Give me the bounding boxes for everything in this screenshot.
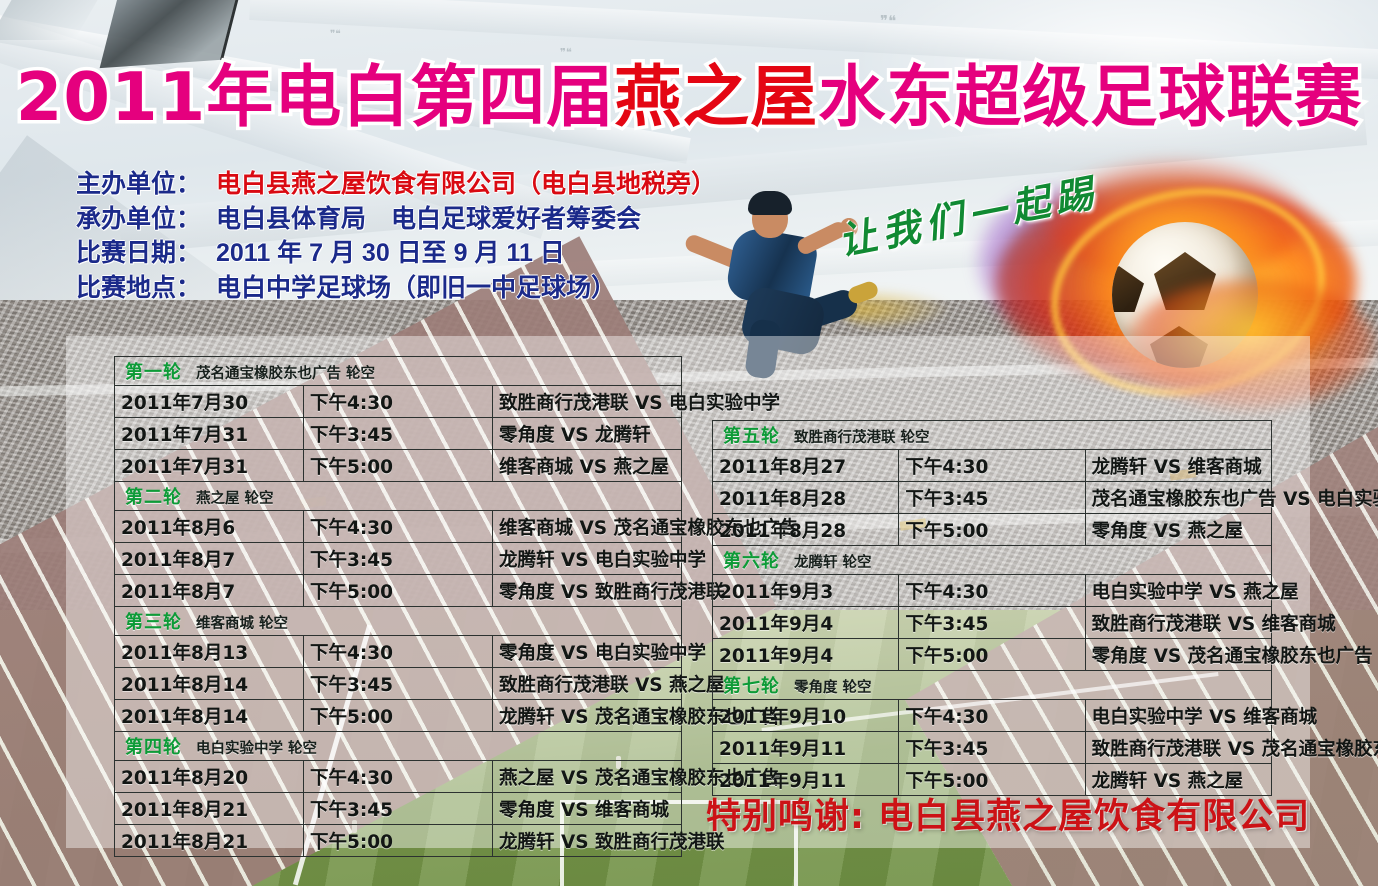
match-date: 2011年8月28 xyxy=(713,482,899,514)
match-time: 下午4:30 xyxy=(899,575,1085,607)
round-name: 第六轮 xyxy=(723,551,780,572)
match-time: 下午5:00 xyxy=(899,639,1085,671)
match-teams: 龙腾轩 VS 茂名通宝橡胶东也广告 xyxy=(493,700,682,732)
event-info-block: 主办单位： 电白县燕之屋饮食有限公司（电白县地税旁） 承办单位： 电白县体育局 … xyxy=(76,168,716,306)
match-teams: 零角度 VS 燕之屋 xyxy=(1085,514,1271,546)
match-row: 2011年9月4下午5:00零角度 VS 茂名通宝橡胶东也广告 xyxy=(713,639,1272,671)
match-time: 下午3:45 xyxy=(899,482,1085,514)
match-date: 2011年8月28 xyxy=(713,514,899,546)
match-time: 下午3:45 xyxy=(899,732,1085,764)
match-teams: 维客商城 VS 茂名通宝橡胶东也广告 xyxy=(493,511,682,543)
round-bye-team: 零角度 轮空 xyxy=(794,680,872,696)
match-row: 2011年8月21下午3:45零角度 VS 维客商城 xyxy=(115,793,682,825)
title-part-1: 2011年电白第四届 xyxy=(16,58,614,136)
match-teams: 致胜商行茂港联 VS 电白实验中学 xyxy=(493,386,682,418)
match-time: 下午3:45 xyxy=(899,607,1085,639)
round-bye-team: 电白实验中学 轮空 xyxy=(196,741,317,757)
match-row: 2011年9月11下午3:45致胜商行茂港联 VS 茂名通宝橡胶东也广告 xyxy=(713,732,1272,764)
schedule-table: 第五轮致胜商行茂港联 轮空2011年8月27下午4:30龙腾轩 VS 维客商城2… xyxy=(712,420,1272,796)
match-date: 2011年9月4 xyxy=(713,639,899,671)
round-header-cell: 第三轮维客商城 轮空 xyxy=(115,607,682,636)
round-name: 第一轮 xyxy=(125,362,182,383)
round-header-cell: 第五轮致胜商行茂港联 轮空 xyxy=(713,421,1272,450)
info-value: 2011 年 7 月 30 日至 9 月 11 日 xyxy=(216,237,565,270)
match-row: 2011年7月31下午5:00维客商城 VS 燕之屋 xyxy=(115,450,682,482)
match-teams: 电白实验中学 VS 燕之屋 xyxy=(1085,575,1271,607)
match-row: 2011年8月14下午5:00龙腾轩 VS 茂名通宝橡胶东也广告 xyxy=(115,700,682,732)
info-row-organizer: 主办单位： 电白县燕之屋饮食有限公司（电白县地税旁） xyxy=(76,168,716,201)
match-row: 2011年8月7下午3:45龙腾轩 VS 电白实验中学 xyxy=(115,543,682,575)
round-bye-team: 燕之屋 轮空 xyxy=(196,491,274,507)
round-header-row: 第六轮龙腾轩 轮空 xyxy=(713,546,1272,575)
round-header-row: 第四轮电白实验中学 轮空 xyxy=(115,732,682,761)
match-date: 2011年9月4 xyxy=(713,607,899,639)
match-time: 下午3:45 xyxy=(304,793,493,825)
round-name: 第七轮 xyxy=(723,676,780,697)
match-date: 2011年8月20 xyxy=(115,761,304,793)
match-teams: 茂名通宝橡胶东也广告 VS 电白实验中学 xyxy=(1085,482,1271,514)
match-date: 2011年9月10 xyxy=(713,700,899,732)
match-date: 2011年8月6 xyxy=(115,511,304,543)
round-name: 第三轮 xyxy=(125,612,182,633)
schedule-table-right: 第五轮致胜商行茂港联 轮空2011年8月27下午4:30龙腾轩 VS 维客商城2… xyxy=(712,420,1272,796)
match-date: 2011年9月3 xyxy=(713,575,899,607)
match-time: 下午4:30 xyxy=(304,511,493,543)
round-header-row: 第三轮维客商城 轮空 xyxy=(115,607,682,636)
match-row: 2011年8月21下午5:00龙腾轩 VS 致胜商行茂港联 xyxy=(115,825,682,857)
seagull-icon: ❞❝ xyxy=(330,30,341,40)
match-teams: 零角度 VS 龙腾轩 xyxy=(493,418,682,450)
match-date: 2011年8月21 xyxy=(115,825,304,857)
match-teams: 燕之屋 VS 茂名通宝橡胶东也广告 xyxy=(493,761,682,793)
match-row: 2011年8月14下午3:45致胜商行茂港联 VS 燕之屋 xyxy=(115,668,682,700)
schedule-table: 第一轮茂名通宝橡胶东也广告 轮空2011年7月30下午4:30致胜商行茂港联 V… xyxy=(114,356,682,857)
match-teams: 维客商城 VS 燕之屋 xyxy=(493,450,682,482)
match-teams: 龙腾轩 VS 维客商城 xyxy=(1085,450,1271,482)
match-teams: 零角度 VS 致胜商行茂港联 xyxy=(493,575,682,607)
info-value: 电白县体育局 电白足球爱好者筹委会 xyxy=(216,203,641,236)
match-date: 2011年7月30 xyxy=(115,386,304,418)
title-part-3: 水东超级足球联赛 xyxy=(818,58,1362,136)
special-thanks-text: 特别鸣谢: 电白县燕之屋饮食有限公司 xyxy=(706,788,1310,839)
match-row: 2011年8月27下午4:30龙腾轩 VS 维客商城 xyxy=(713,450,1272,482)
match-row: 2011年8月20下午4:30燕之屋 VS 茂名通宝橡胶东也广告 xyxy=(115,761,682,793)
round-header-row: 第二轮燕之屋 轮空 xyxy=(115,482,682,511)
match-teams: 龙腾轩 VS 致胜商行茂港联 xyxy=(493,825,682,857)
info-value: 电白县燕之屋饮食有限公司（电白县地税旁） xyxy=(216,168,716,201)
info-row-venue: 比赛地点： 电白中学足球场（即旧一中足球场） xyxy=(76,272,716,305)
poster-canvas: ❞❝ ❞❝ ❞❝ xyxy=(0,0,1378,886)
match-row: 2011年7月31下午3:45零角度 VS 龙腾轩 xyxy=(115,418,682,450)
match-time: 下午4:30 xyxy=(304,761,493,793)
info-label: 比赛地点： xyxy=(76,272,216,305)
title-part-2: 燕之屋 xyxy=(614,58,818,136)
round-bye-team: 致胜商行茂港联 轮空 xyxy=(794,430,930,446)
match-row: 2011年8月28下午5:00零角度 VS 燕之屋 xyxy=(713,514,1272,546)
round-header-row: 第七轮零角度 轮空 xyxy=(713,671,1272,700)
match-time: 下午3:45 xyxy=(304,418,493,450)
match-teams: 致胜商行茂港联 VS 燕之屋 xyxy=(493,668,682,700)
match-row: 2011年8月28下午3:45茂名通宝橡胶东也广告 VS 电白实验中学 xyxy=(713,482,1272,514)
round-header-row: 第一轮茂名通宝橡胶东也广告 轮空 xyxy=(115,357,682,386)
round-header-cell: 第七轮零角度 轮空 xyxy=(713,671,1272,700)
round-name: 第五轮 xyxy=(723,426,780,447)
round-header-cell: 第二轮燕之屋 轮空 xyxy=(115,482,682,511)
match-time: 下午4:30 xyxy=(899,450,1085,482)
match-time: 下午5:00 xyxy=(304,450,493,482)
match-time: 下午5:00 xyxy=(304,700,493,732)
match-date: 2011年8月21 xyxy=(115,793,304,825)
round-header-row: 第五轮致胜商行茂港联 轮空 xyxy=(713,421,1272,450)
round-name: 第二轮 xyxy=(125,487,182,508)
match-date: 2011年8月27 xyxy=(713,450,899,482)
match-time: 下午4:30 xyxy=(899,700,1085,732)
match-date: 2011年8月7 xyxy=(115,575,304,607)
match-row: 2011年9月4下午3:45致胜商行茂港联 VS 维客商城 xyxy=(713,607,1272,639)
match-row: 2011年8月13下午4:30零角度 VS 电白实验中学 xyxy=(115,636,682,668)
match-time: 下午5:00 xyxy=(304,825,493,857)
match-date: 2011年8月14 xyxy=(115,700,304,732)
match-row: 2011年9月10下午4:30电白实验中学 VS 维客商城 xyxy=(713,700,1272,732)
match-time: 下午5:00 xyxy=(899,514,1085,546)
match-time: 下午3:45 xyxy=(304,668,493,700)
round-bye-team: 维客商城 轮空 xyxy=(196,616,288,632)
info-label: 主办单位： xyxy=(76,168,216,201)
round-header-cell: 第四轮电白实验中学 轮空 xyxy=(115,732,682,761)
player-hair xyxy=(748,191,792,215)
match-row: 2011年8月6下午4:30维客商城 VS 茂名通宝橡胶东也广告 xyxy=(115,511,682,543)
match-row: 2011年7月30下午4:30致胜商行茂港联 VS 电白实验中学 xyxy=(115,386,682,418)
match-teams: 零角度 VS 维客商城 xyxy=(493,793,682,825)
match-teams: 致胜商行茂港联 VS 茂名通宝橡胶东也广告 xyxy=(1085,732,1271,764)
match-time: 下午4:30 xyxy=(304,386,493,418)
match-time: 下午4:30 xyxy=(304,636,493,668)
match-row: 2011年9月3下午4:30电白实验中学 VS 燕之屋 xyxy=(713,575,1272,607)
match-teams: 零角度 VS 茂名通宝橡胶东也广告 xyxy=(1085,639,1271,671)
match-teams: 致胜商行茂港联 VS 维客商城 xyxy=(1085,607,1271,639)
match-date: 2011年8月13 xyxy=(115,636,304,668)
round-bye-team: 茂名通宝橡胶东也广告 轮空 xyxy=(196,366,375,382)
round-bye-team: 龙腾轩 轮空 xyxy=(794,555,872,571)
info-row-coorganizer: 承办单位： 电白县体育局 电白足球爱好者筹委会 xyxy=(76,203,716,236)
info-label: 承办单位： xyxy=(76,203,216,236)
match-time: 下午5:00 xyxy=(304,575,493,607)
seagull-icon: ❞❝ xyxy=(880,14,896,29)
match-row: 2011年8月7下午5:00零角度 VS 致胜商行茂港联 xyxy=(115,575,682,607)
match-date: 2011年8月7 xyxy=(115,543,304,575)
match-date: 2011年9月11 xyxy=(713,732,899,764)
match-date: 2011年7月31 xyxy=(115,450,304,482)
info-row-dates: 比赛日期： 2011 年 7 月 30 日至 9 月 11 日 xyxy=(76,237,716,270)
schedule-table-left: 第一轮茂名通宝橡胶东也广告 轮空2011年7月30下午4:30致胜商行茂港联 V… xyxy=(114,356,682,857)
match-teams: 龙腾轩 VS 电白实验中学 xyxy=(493,543,682,575)
round-header-cell: 第六轮龙腾轩 轮空 xyxy=(713,546,1272,575)
info-value: 电白中学足球场（即旧一中足球场） xyxy=(216,272,616,305)
info-label: 比赛日期： xyxy=(76,237,216,270)
match-time: 下午3:45 xyxy=(304,543,493,575)
match-date: 2011年8月14 xyxy=(115,668,304,700)
round-name: 第四轮 xyxy=(125,737,182,758)
round-header-cell: 第一轮茂名通宝橡胶东也广告 轮空 xyxy=(115,357,682,386)
ball-pentagon xyxy=(1112,266,1144,312)
match-date: 2011年7月31 xyxy=(115,418,304,450)
page-title: 2011年电白第四届燕之屋水东超级足球联赛 xyxy=(0,64,1378,131)
match-teams: 零角度 VS 电白实验中学 xyxy=(493,636,682,668)
match-teams: 电白实验中学 VS 维客商城 xyxy=(1085,700,1271,732)
